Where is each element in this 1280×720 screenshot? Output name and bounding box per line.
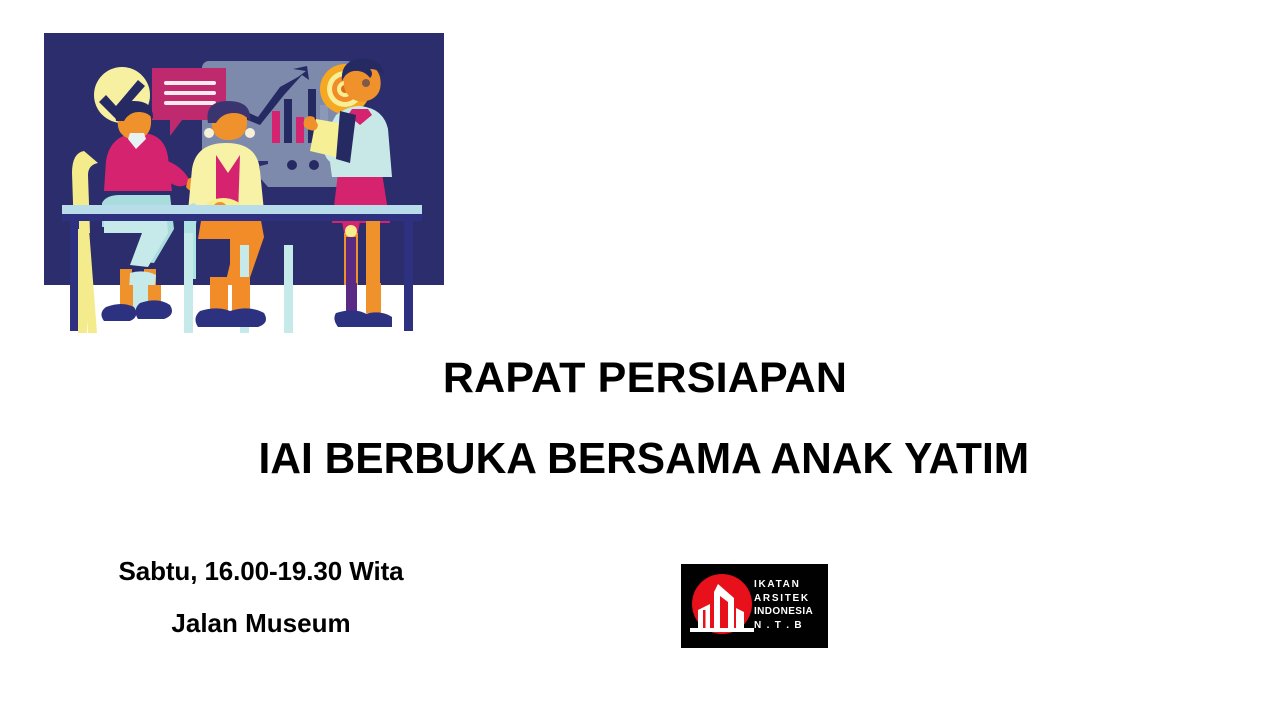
iai-logo-text: IKATAN ARSITEK INDONESIA N . T . B — [754, 578, 826, 632]
earring-left — [204, 128, 214, 138]
title-line-2: IAI BERBUKA BERSAMA ANAK YATIM — [22, 433, 1257, 485]
logo-line-2: ARSITEK — [754, 592, 826, 606]
event-place: Jalan Museum — [70, 610, 452, 636]
business-meeting-illustration — [44, 33, 444, 340]
shoe — [135, 300, 172, 319]
right-person-feet — [334, 283, 392, 327]
event-details: Sabtu, 16.00-19.30 Wita Jalan Museum — [70, 558, 452, 636]
bubble-dot-1 — [287, 160, 297, 170]
bubble-dot-2 — [309, 160, 319, 170]
earring-right — [245, 128, 255, 138]
event-time: Sabtu, 16.00-19.30 Wita — [70, 558, 452, 584]
logo-line-4: N . T . B — [754, 619, 826, 633]
bubble-line-3 — [164, 101, 216, 105]
shoe — [101, 304, 136, 321]
iai-ntb-logo: IKATAN ARSITEK INDONESIA N . T . B — [681, 564, 828, 648]
logo-line-3: INDONESIA — [754, 605, 826, 619]
bubble-line-1 — [164, 81, 216, 85]
page-title: RAPAT PERSIAPAN IAI BERBUKA BERSAMA ANAK… — [0, 352, 1280, 485]
iai-logo-mark-icon — [686, 570, 758, 642]
logo-line-1: IKATAN — [754, 578, 826, 592]
shoe-heel — [362, 312, 392, 327]
title-line-1: RAPAT PERSIAPAN — [0, 352, 1280, 404]
bubble-line-2 — [164, 91, 216, 95]
shoe — [225, 308, 266, 327]
